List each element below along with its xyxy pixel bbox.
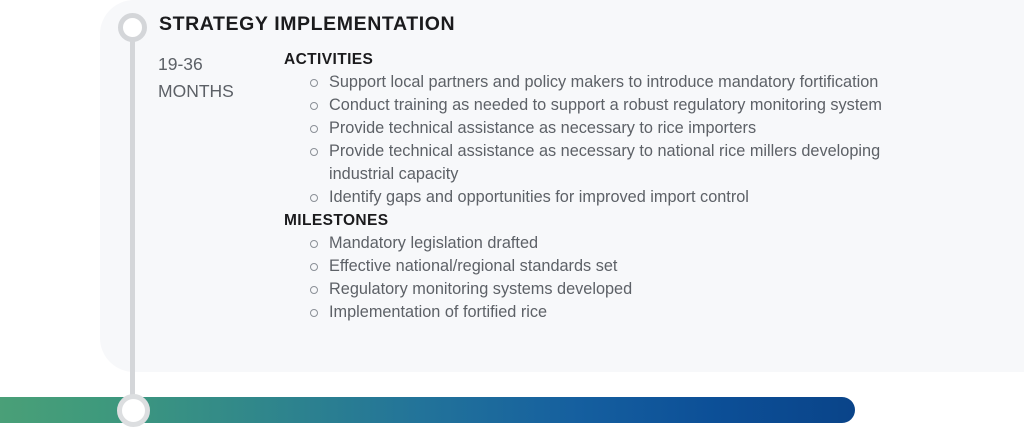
section-heading-milestones: MILESTONES [284, 212, 924, 230]
phase-duration-range: 19-36 [158, 51, 273, 78]
milestones-list: Mandatory legislation drafted Effective … [284, 232, 924, 324]
list-item: Effective national/regional standards se… [284, 255, 924, 278]
timeline-rail-line [130, 27, 135, 410]
timeline-node-bottom-circle-icon [117, 394, 150, 427]
list-item: Conduct training as needed to support a … [284, 94, 924, 117]
phase-duration: 19-36 MONTHS [158, 51, 273, 105]
phase-title: STRATEGY IMPLEMENTATION [159, 13, 455, 36]
list-item: Provide technical assistance as necessar… [284, 117, 924, 140]
timeline-node-top-circle-icon [118, 13, 147, 42]
list-item: Identify gaps and opportunities for impr… [284, 186, 924, 209]
list-item: Provide technical assistance as necessar… [284, 140, 924, 185]
list-item: Regulatory monitoring systems developed [284, 278, 924, 301]
phase-duration-unit: MONTHS [158, 78, 273, 105]
timeline-phase-diagram: STRATEGY IMPLEMENTATION 19-36 MONTHS ACT… [0, 0, 1024, 445]
section-heading-activities: ACTIVITIES [284, 51, 924, 69]
section-activities: ACTIVITIES Support local partners and po… [284, 51, 924, 209]
activities-list: Support local partners and policy makers… [284, 71, 924, 209]
list-item: Implementation of fortified rice [284, 301, 924, 324]
section-milestones: MILESTONES Mandatory legislation drafted… [284, 212, 924, 324]
phase-sections: ACTIVITIES Support local partners and po… [284, 51, 924, 324]
list-item: Mandatory legislation drafted [284, 232, 924, 255]
list-item: Support local partners and policy makers… [284, 71, 924, 94]
